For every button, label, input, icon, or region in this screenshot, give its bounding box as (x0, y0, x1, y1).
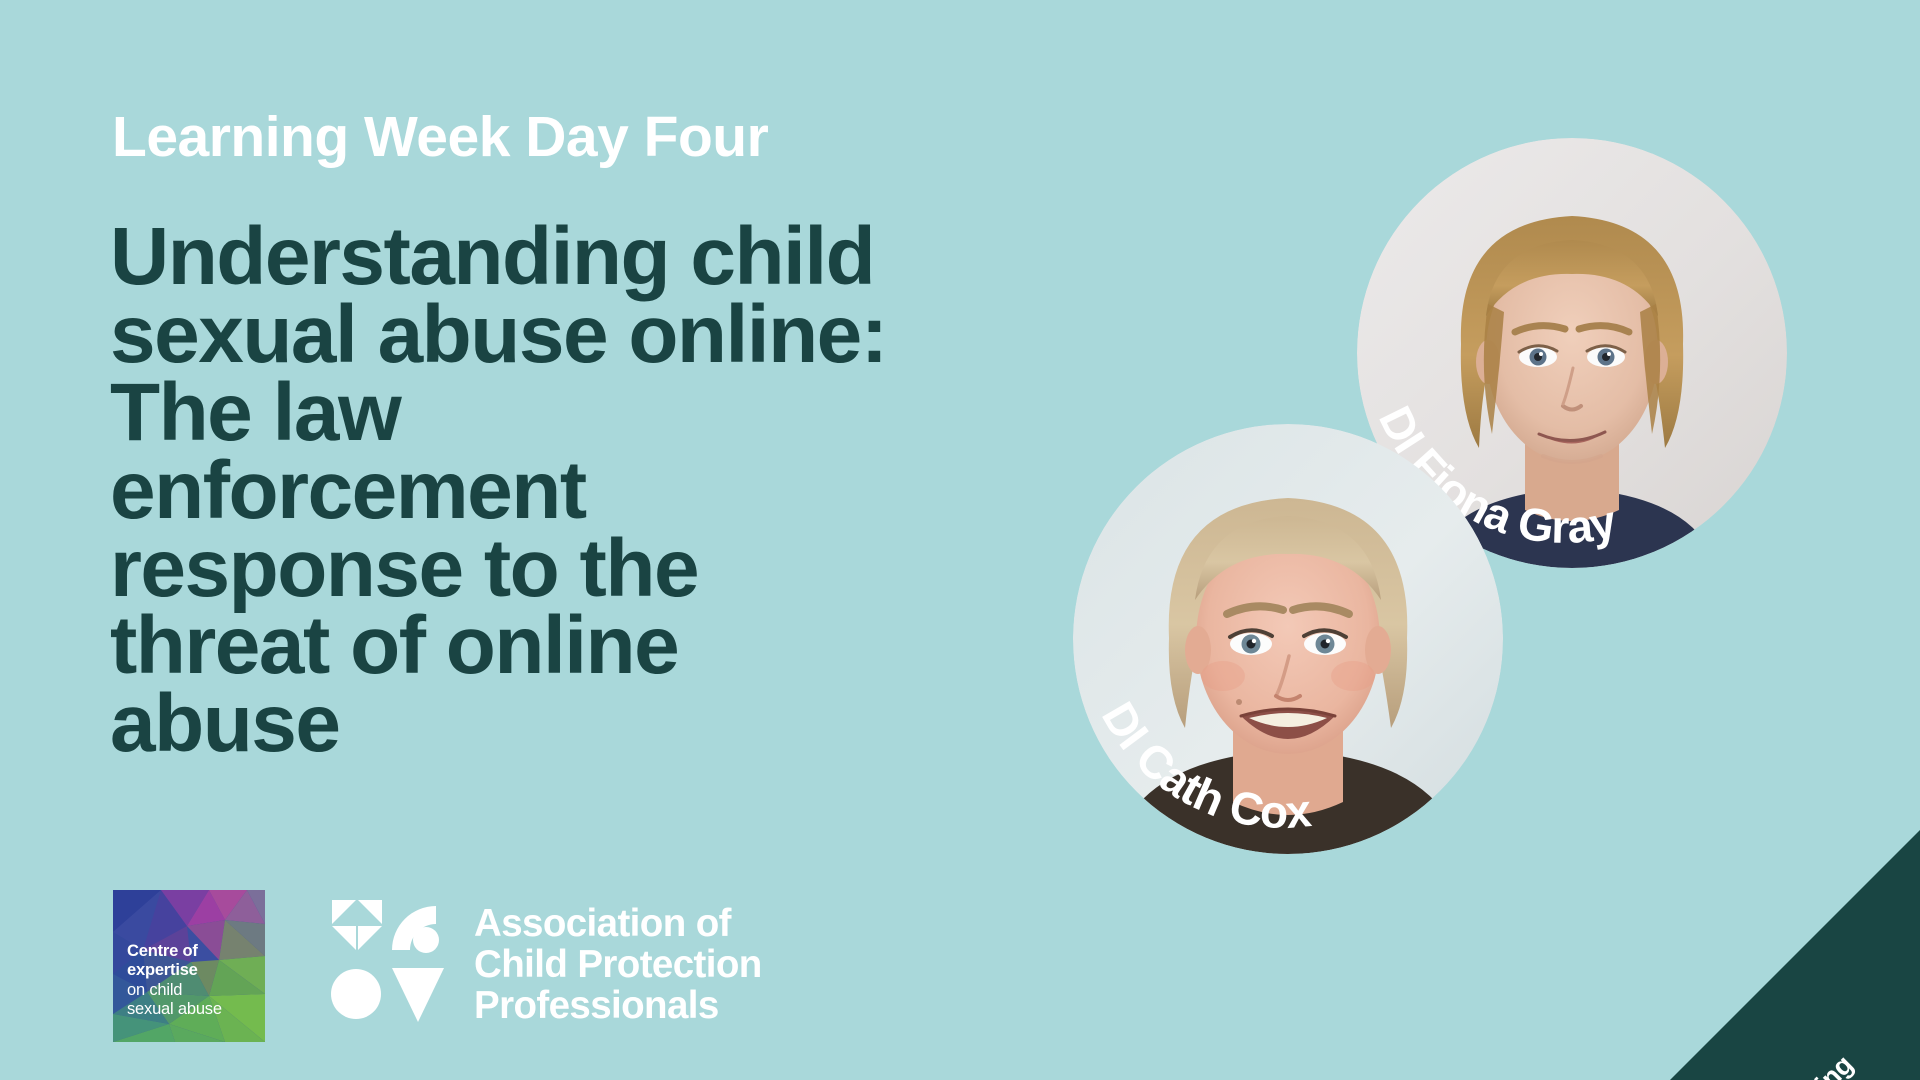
portrait-image-cath-cox (1073, 424, 1503, 854)
csa-logo-line-2: expertise (127, 961, 259, 980)
page-title: Understanding child sexual abuse online:… (110, 218, 930, 763)
acp-logo-line-1: Association of (474, 904, 762, 945)
title-line: threat of online (110, 607, 930, 685)
csa-logo-line-1: Centre of (127, 942, 259, 961)
slide-canvas: Learning Week Day Four Understanding chi… (0, 0, 1920, 1080)
title-line: Understanding child (110, 218, 930, 296)
title-line: sexual abuse online: (110, 296, 930, 374)
acp-logo-line-2: Child Protection (474, 945, 762, 986)
title-line: response to the (110, 530, 930, 608)
logo-acp: Association of Child Protection Professi… (330, 898, 762, 1026)
csa-logo-line-3: on child (127, 981, 259, 1000)
csa-centre-logo-text: Centre of expertise on child sexual abus… (127, 942, 259, 1019)
logo-csa-centre: Centre of expertise on child sexual abus… (113, 890, 265, 1042)
acp-logo-line-3: Professionals (474, 986, 762, 1027)
eyebrow-heading: Learning Week Day Four (112, 108, 768, 168)
corner-ribbon: Learning Week (1670, 830, 1920, 1080)
acp-logo-text: Association of Child Protection Professi… (474, 898, 762, 1026)
csa-logo-line-4: sexual abuse (127, 1000, 259, 1019)
acp-logo-mark-icon (330, 898, 448, 1024)
title-line: The law (110, 374, 930, 452)
title-line: enforcement (110, 452, 930, 530)
title-line: abuse (110, 685, 930, 763)
avatar-cath-cox (1073, 424, 1503, 854)
